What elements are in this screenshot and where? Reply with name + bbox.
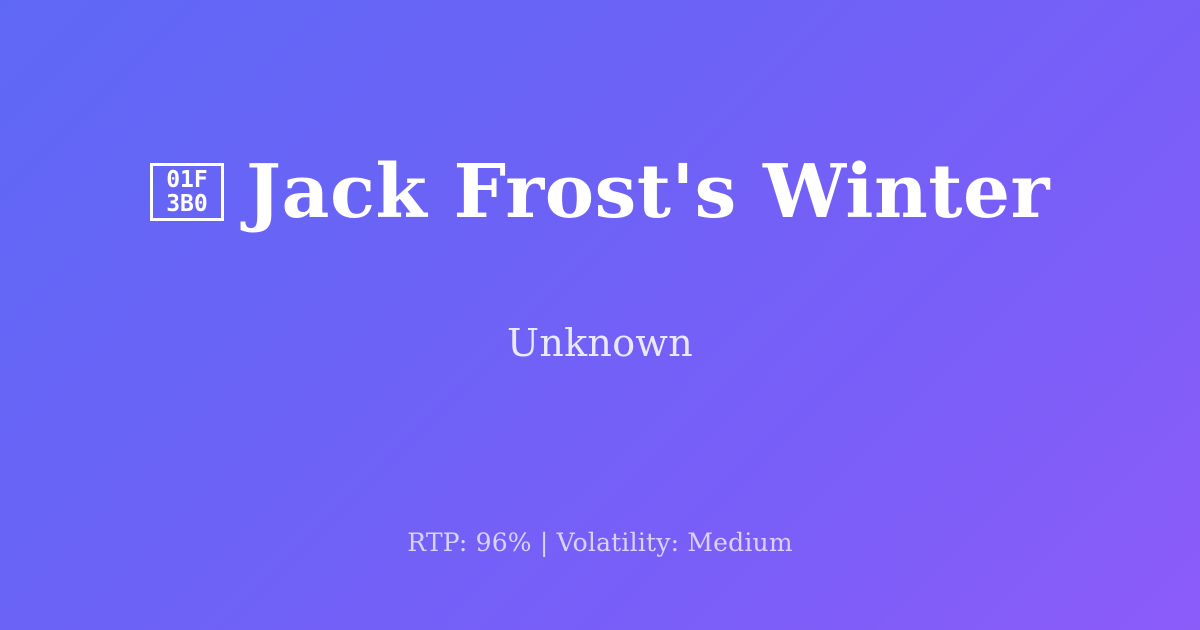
game-banner-card: 01F 3B0 Jack Frost's Winter Unknown RTP:…	[0, 0, 1200, 630]
tofu-codepoint-bottom: 3B0	[166, 192, 208, 216]
hero-section: 01F 3B0 Jack Frost's Winter Unknown	[0, 0, 1200, 470]
slot-machine-emoji-tofu-icon: 01F 3B0	[150, 163, 224, 221]
page-title: Jack Frost's Winter	[246, 155, 1050, 229]
tofu-codepoint-top: 01F	[166, 168, 208, 192]
title-row: 01F 3B0 Jack Frost's Winter	[150, 105, 1050, 278]
game-stats-line: RTP: 96% | Volatility: Medium	[0, 528, 1200, 557]
provider-subtitle: Unknown	[507, 321, 693, 365]
